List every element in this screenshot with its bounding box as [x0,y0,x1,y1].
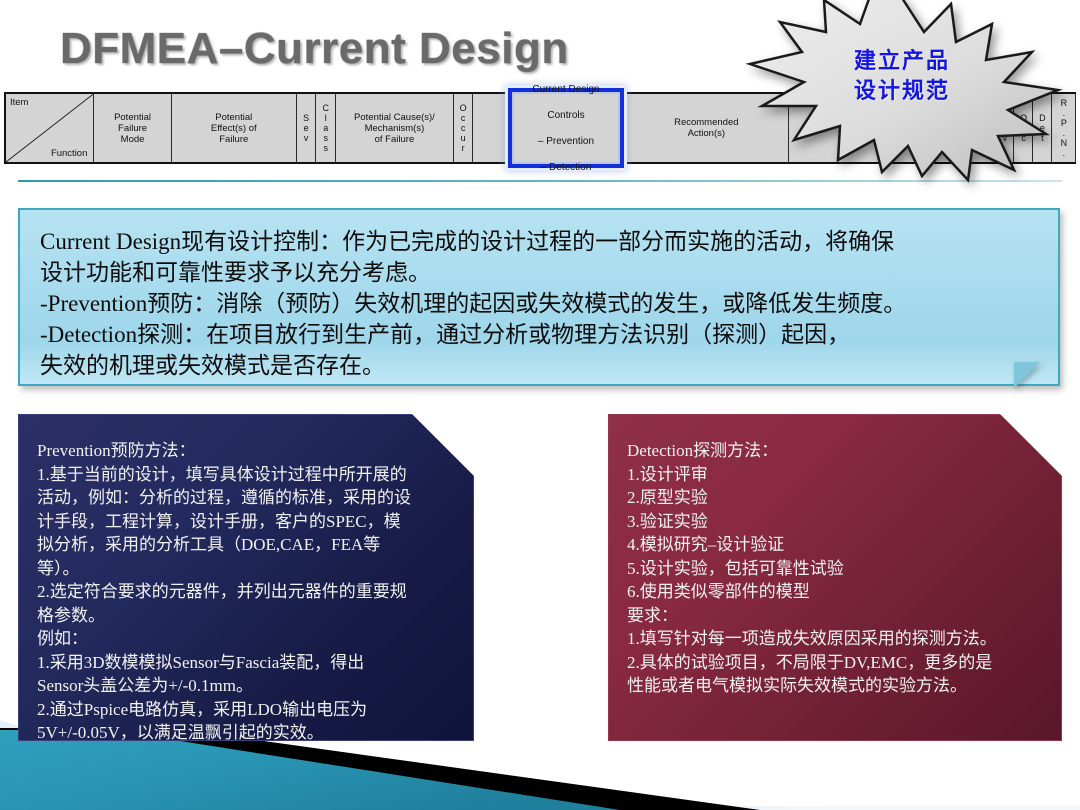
prevention-line-6: 等）。 [37,557,457,581]
fmea-col-label: Class [321,103,330,153]
detection-line-11: 性能或者电气模拟实际失效模式的实验方法。 [627,674,1045,698]
prevention-line-7: 2.选定符合要求的元器件，并列出元器件的重要规 [37,580,457,604]
highlight-inner-frame: Current DesignControls– Prevention– Dete… [512,92,620,164]
fmea-col-label: PotentialFailureMode [114,112,151,145]
callout-line-2: 设计功能和可靠性要求予以充分考虑。 [40,257,1038,288]
detection-line-6: 5.设计实验，包括可靠性试验 [627,557,1045,581]
fmea-col-potential-effects: PotentialEffect(s) ofFailure [172,94,297,162]
prevention-line-1: Prevention预防方法： [37,439,457,463]
detection-line-1: Detection探测方法： [627,439,1045,463]
fmea-label-item: Item [10,97,28,108]
fmea-col-occur: Occur [454,94,473,162]
fmea-col-label: RecommendedAction(s) [674,117,738,139]
detection-line-5: 4.模拟研究–设计验证 [627,533,1045,557]
callout-line-3: -Prevention预防：消除（预防）失效机理的起因或失效模式的发生，或降低发… [40,288,1038,319]
fmea-col-item-function: Item Function [4,94,94,162]
detection-line-4: 3.验证实验 [627,510,1045,534]
starburst-text: 建立产品 设计规范 [746,46,1058,106]
fmea-col-label: R.P.N. [1059,98,1068,158]
prevention-line-8: 格参数。 [37,604,457,628]
callout-line-4: -Detection探测：在项目放行到生产前，通过分析或物理方法识别（探测）起因… [40,319,1038,350]
callout-line-5: 失效的机理或失效模式是否存在。 [40,350,1038,381]
highlight-cell-text: Current DesignControls– Prevention– Dete… [532,83,599,174]
detection-line-3: 2.原型实验 [627,486,1045,510]
fmea-col-potential-failure-mode: PotentialFailureMode [94,94,171,162]
fmea-col-class: Class [316,94,337,162]
page-title: DFMEA–Current Design [60,24,569,74]
starburst-line-2: 设计规范 [746,76,1058,106]
fmea-label-function: Function [51,148,87,159]
callout-line-1: Current Design现有设计控制：作为已完成的设计过程的一部分而实施的活… [40,226,1038,257]
callout-tail-icon [1014,362,1040,388]
detection-line-7: 6.使用类似零部件的模型 [627,580,1045,604]
fmea-col-label: Potential Cause(s)/Mechanism(s)of Failur… [354,112,435,145]
prevention-line-13: 5V+/-0.05V，以满足温飘引起的实效。 [37,721,457,745]
detection-line-2: 1.设计评审 [627,463,1045,487]
header-divider [18,180,1062,182]
slide-root: DFMEA–Current Design Item Function Poten… [0,0,1080,810]
prevention-line-3: 活动，例如：分析的过程，遵循的标准，采用的设 [37,486,457,510]
prevention-line-10: 1.采用3D数模模拟Sensor与Fascia装配，得出 [37,651,457,675]
starburst-line-1: 建立产品 [746,46,1058,76]
fmea-col-sev: Sev [297,94,316,162]
highlight-current-design-controls[interactable]: Current DesignControls– Prevention– Dete… [508,88,624,168]
prevention-line-11: Sensor头盖公差为+/-0.1mm。 [37,674,457,698]
fmea-col-label: Occur [458,103,467,153]
detection-line-9: 1.填写针对每一项造成失效原因采用的探测方法。 [627,627,1045,651]
detection-line-8: 要求： [627,604,1045,628]
prevention-line-9: 例如： [37,627,457,651]
prevention-line-12: 2.通过Pspice电路仿真，采用LDO输出电压为 [37,698,457,722]
fmea-col-label: Sev [301,113,310,143]
detection-box: Detection探测方法： 1.设计评审 2.原型实验 3.验证实验 4.模拟… [608,414,1062,741]
prevention-box: Prevention预防方法： 1.基于当前的设计，填写具体设计过程中所开展的 … [18,414,474,741]
starburst-callout: 建立产品 设计规范 [746,0,1058,180]
main-callout-box: Current Design现有设计控制：作为已完成的设计过程的一部分而实施的活… [18,208,1060,386]
prevention-line-5: 拟分析，采用的分析工具（DOE,CAE，FEA等 [37,533,457,557]
fmea-col-potential-cause: Potential Cause(s)/Mechanism(s)of Failur… [336,94,454,162]
prevention-line-2: 1.基于当前的设计，填写具体设计过程中所开展的 [37,463,457,487]
fmea-col-label: PotentialEffect(s) ofFailure [211,112,257,145]
prevention-line-4: 计手段，工程计算，设计手册，客户的SPEC，模 [37,510,457,534]
detection-line-10: 2.具体的试验项目，不局限于DV,EMC，更多的是 [627,651,1045,675]
